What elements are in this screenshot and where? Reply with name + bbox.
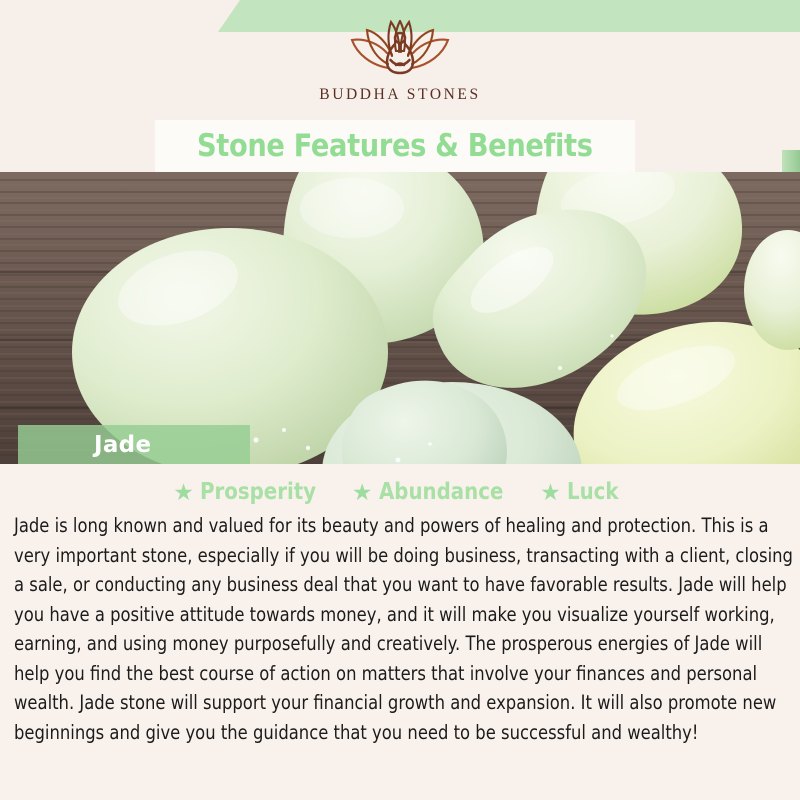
benefit-item-prosperity: ★ Prosperity [173, 479, 335, 505]
benefit-label: Prosperity [200, 479, 316, 505]
poster-card: BUDDHA STONES Stone Features & Benefits [0, 0, 800, 800]
jade-stones-photo [0, 172, 800, 464]
benefit-label: Luck [567, 479, 619, 505]
benefits-row: ★ Prosperity ★ Abundance ★ Luck [0, 464, 800, 505]
brand-logo-block: BUDDHA STONES [270, 16, 530, 104]
benefit-label: Abundance [379, 479, 503, 505]
star-icon: ★ [540, 481, 561, 504]
stone-name-band: Jade [18, 425, 250, 464]
stone-description: Jade is long known and valued for its be… [14, 511, 798, 747]
brand-name: BUDDHA STONES [270, 86, 530, 104]
stone-name-label: Jade [94, 432, 151, 458]
photo-illustration [0, 172, 800, 464]
star-icon: ★ [173, 481, 194, 504]
title-banner: Stone Features & Benefits [155, 120, 635, 172]
lotus-meditating-figure-icon [340, 16, 460, 82]
content-area: ★ Prosperity ★ Abundance ★ Luck Jade is … [0, 464, 800, 800]
benefit-item-abundance: ★ Abundance [352, 479, 523, 505]
page-title: Stone Features & Benefits [197, 128, 593, 164]
benefit-item-luck: ★ Luck [540, 479, 627, 505]
header: BUDDHA STONES [0, 0, 800, 120]
star-icon: ★ [352, 481, 373, 504]
